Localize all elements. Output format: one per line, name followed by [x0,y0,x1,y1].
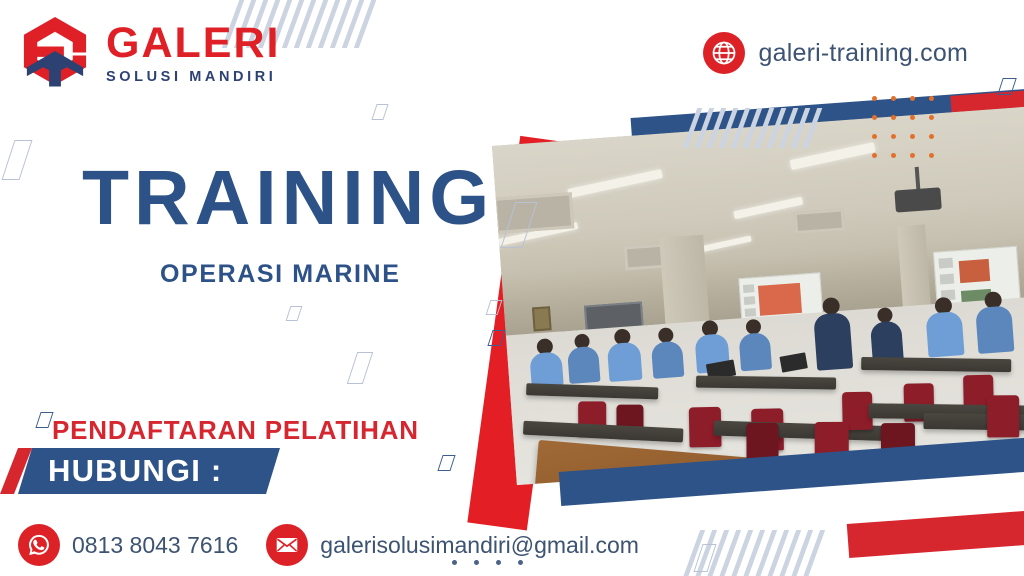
email-icon [266,524,308,566]
page-title: TRAINING [82,160,494,237]
page-subtitle: OPERASI MARINE [160,260,400,289]
whatsapp-number: 0813 8043 7616 [72,532,238,559]
parallelogram-decoration [35,412,53,428]
website-url-text: galeri-training.com [759,39,968,68]
parallelogram-decoration [997,78,1017,95]
brand-name: GALERI [106,22,280,65]
parallelogram-decoration [487,330,505,346]
contact-whatsapp[interactable]: 0813 8043 7616 [18,524,238,566]
parallelogram-decoration [286,306,303,321]
gs-hexagon-monogram-icon [18,14,92,93]
whatsapp-icon [18,524,60,566]
email-address: galerisolusimandiri@gmail.com [320,532,639,559]
banner-label: HUBUNGI : [48,453,222,489]
training-promo-poster: GALERI SOLUSI MANDIRI galeri-training.co… [0,0,1024,576]
contact-banner: HUBUNGI : [0,448,280,494]
contact-email[interactable]: galerisolusimandiri@gmail.com [266,524,639,566]
parallelogram-decoration [486,300,503,315]
parallelogram-decoration [371,104,388,120]
brand-tagline: SOLUSI MANDIRI [106,70,280,85]
diagonal-stripes-bottom [680,530,825,576]
globe-icon [703,32,745,74]
red-accent-bottom-right [847,505,1024,558]
contact-row: 0813 8043 7616 galerisolusimandiri@gmail… [18,524,639,566]
website-link[interactable]: galeri-training.com [703,32,968,74]
parallelogram-decoration [437,455,455,471]
registration-label: PENDAFTARAN PELATIHAN [52,415,419,446]
parallelogram-decoration [2,140,33,180]
brand-logo[interactable]: GALERI SOLUSI MANDIRI [18,14,280,93]
parallelogram-decoration [693,544,716,572]
parallelogram-decoration [347,352,373,384]
training-classroom-photo [492,106,1024,485]
